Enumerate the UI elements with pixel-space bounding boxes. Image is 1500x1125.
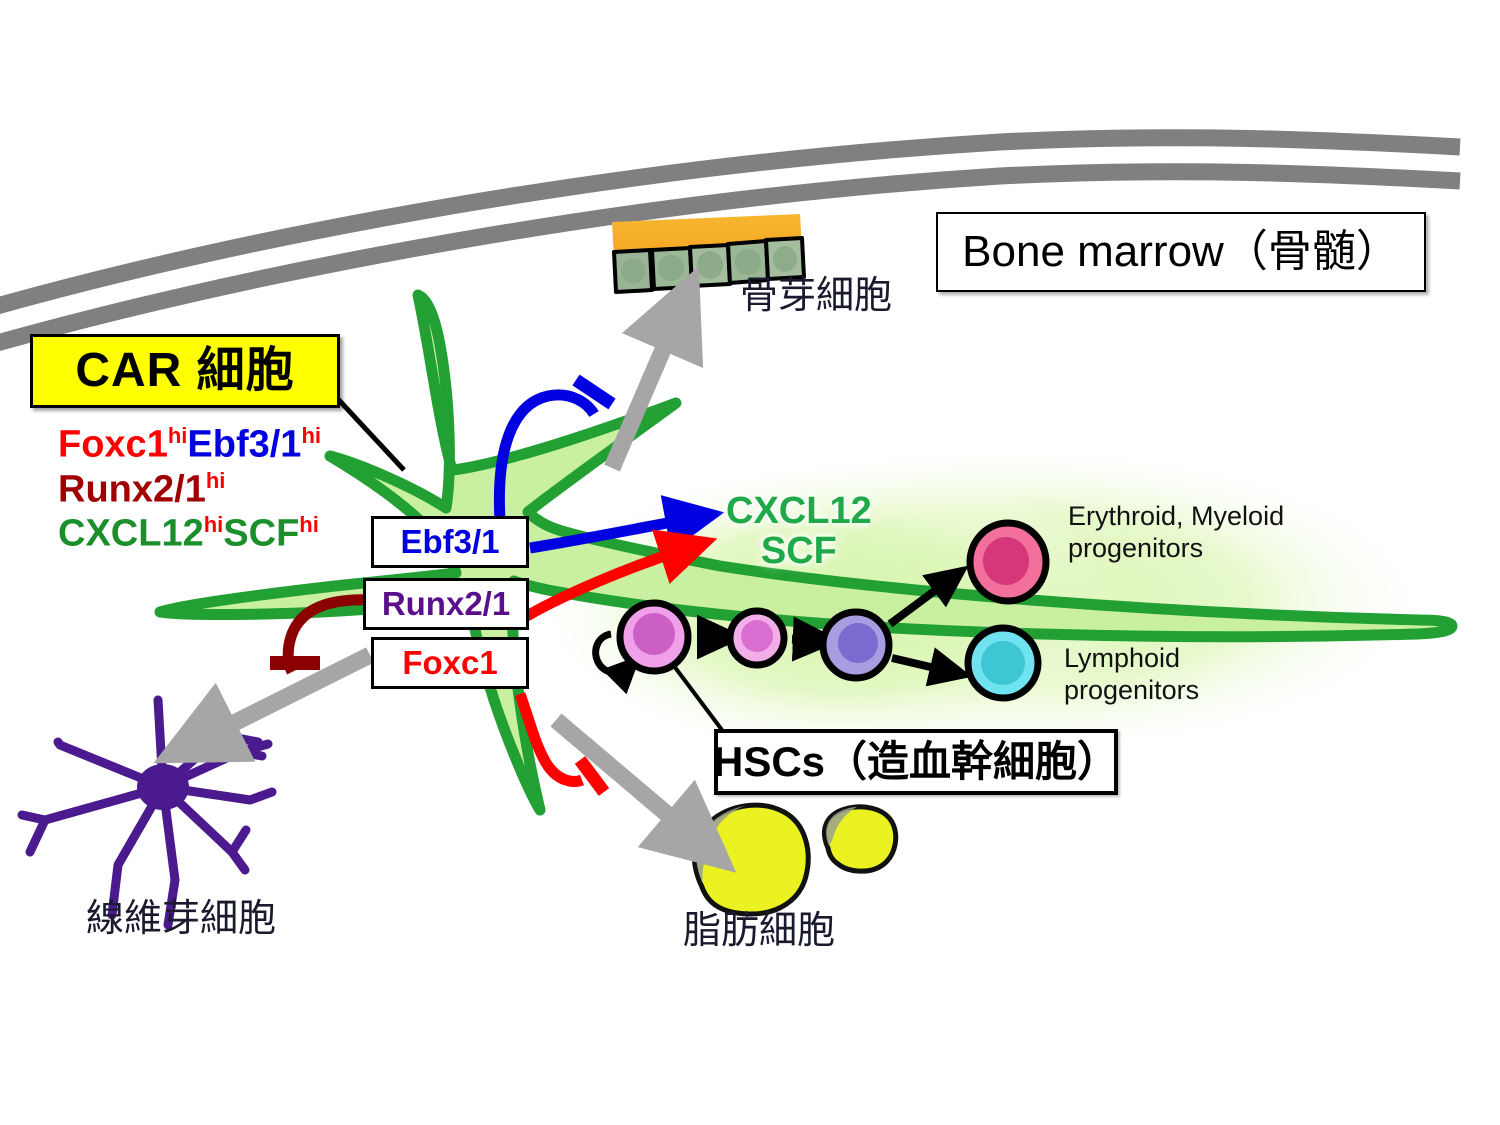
marker-scf-sup: hi (299, 512, 319, 537)
label-osteoblast: 骨芽細胞 (740, 277, 892, 317)
secreted-factor-cxcl12: CXCL12 (726, 492, 872, 532)
hsc-label: HSCs（造血幹細胞） (713, 740, 1119, 784)
label-lymphoid-progenitors: Lymphoid progenitors (1064, 642, 1199, 707)
marker-foxc1: Foxc1 (58, 424, 168, 466)
label-erythroid-myeloid-progenitors: Erythroid, Myeloid progenitors (1068, 500, 1284, 565)
arrow-to-osteoblast (612, 310, 680, 468)
car-cell-marker-list: Foxc1hiEbf3/1hi Runx2/1hi CXCL12hiSCFhi (58, 424, 321, 558)
cell-hsc-nucleus (633, 613, 675, 655)
secreted-factor-label: CXCL12 SCF (726, 492, 872, 572)
marker-row-2: Runx2/1hi (58, 469, 321, 511)
car-cell-title: CAR 細胞 (75, 346, 294, 396)
marker-ebf31: Ebf3/1 (187, 424, 301, 466)
label-ery-line1: Erythroid, Myeloid (1068, 500, 1284, 532)
hsc-label-box: HSCs（造血幹細胞） (714, 729, 1118, 795)
bone-marrow-label-box: Bone marrow（骨髄） (936, 212, 1426, 292)
marker-cxcl12-sup: hi (204, 512, 224, 537)
label-ery-line2: progenitors (1068, 532, 1284, 564)
marker-scf: SCF (223, 513, 299, 555)
marker-row-1: Foxc1hiEbf3/1hi (58, 424, 321, 466)
car-cell-title-box: CAR 細胞 (30, 334, 340, 408)
marker-row-3: CXCL12hiSCFhi (58, 513, 321, 555)
marker-cxcl12: CXCL12 (58, 513, 204, 555)
figure-canvas: CAR 細胞 Foxc1hiEbf3/1hi Runx2/1hi CXCL12h… (0, 0, 1500, 1125)
label-adipocyte: 脂肪細胞 (683, 912, 835, 952)
marker-foxc1-sup: hi (168, 423, 188, 448)
fibroblast-cell (22, 700, 272, 925)
label-lym-line1: Lymphoid (1064, 642, 1199, 674)
marker-ebf31-sup: hi (301, 423, 321, 448)
tf-box-ebf31: Ebf3/1 (371, 516, 529, 568)
label-fibroblast: 線維芽細胞 (86, 900, 276, 940)
label-lym-line2: progenitors (1064, 674, 1199, 706)
tf-box-foxc1: Foxc1 (371, 637, 529, 689)
marker-runx21-sup: hi (206, 468, 226, 493)
bone-marrow-label: Bone marrow（骨髄） (962, 229, 1400, 275)
adipocyte-group (694, 805, 895, 914)
tf-box-runx21: Runx2/1 (363, 578, 529, 630)
secreted-factor-scf: SCF (726, 532, 872, 572)
marker-runx21: Runx2/1 (58, 468, 206, 510)
